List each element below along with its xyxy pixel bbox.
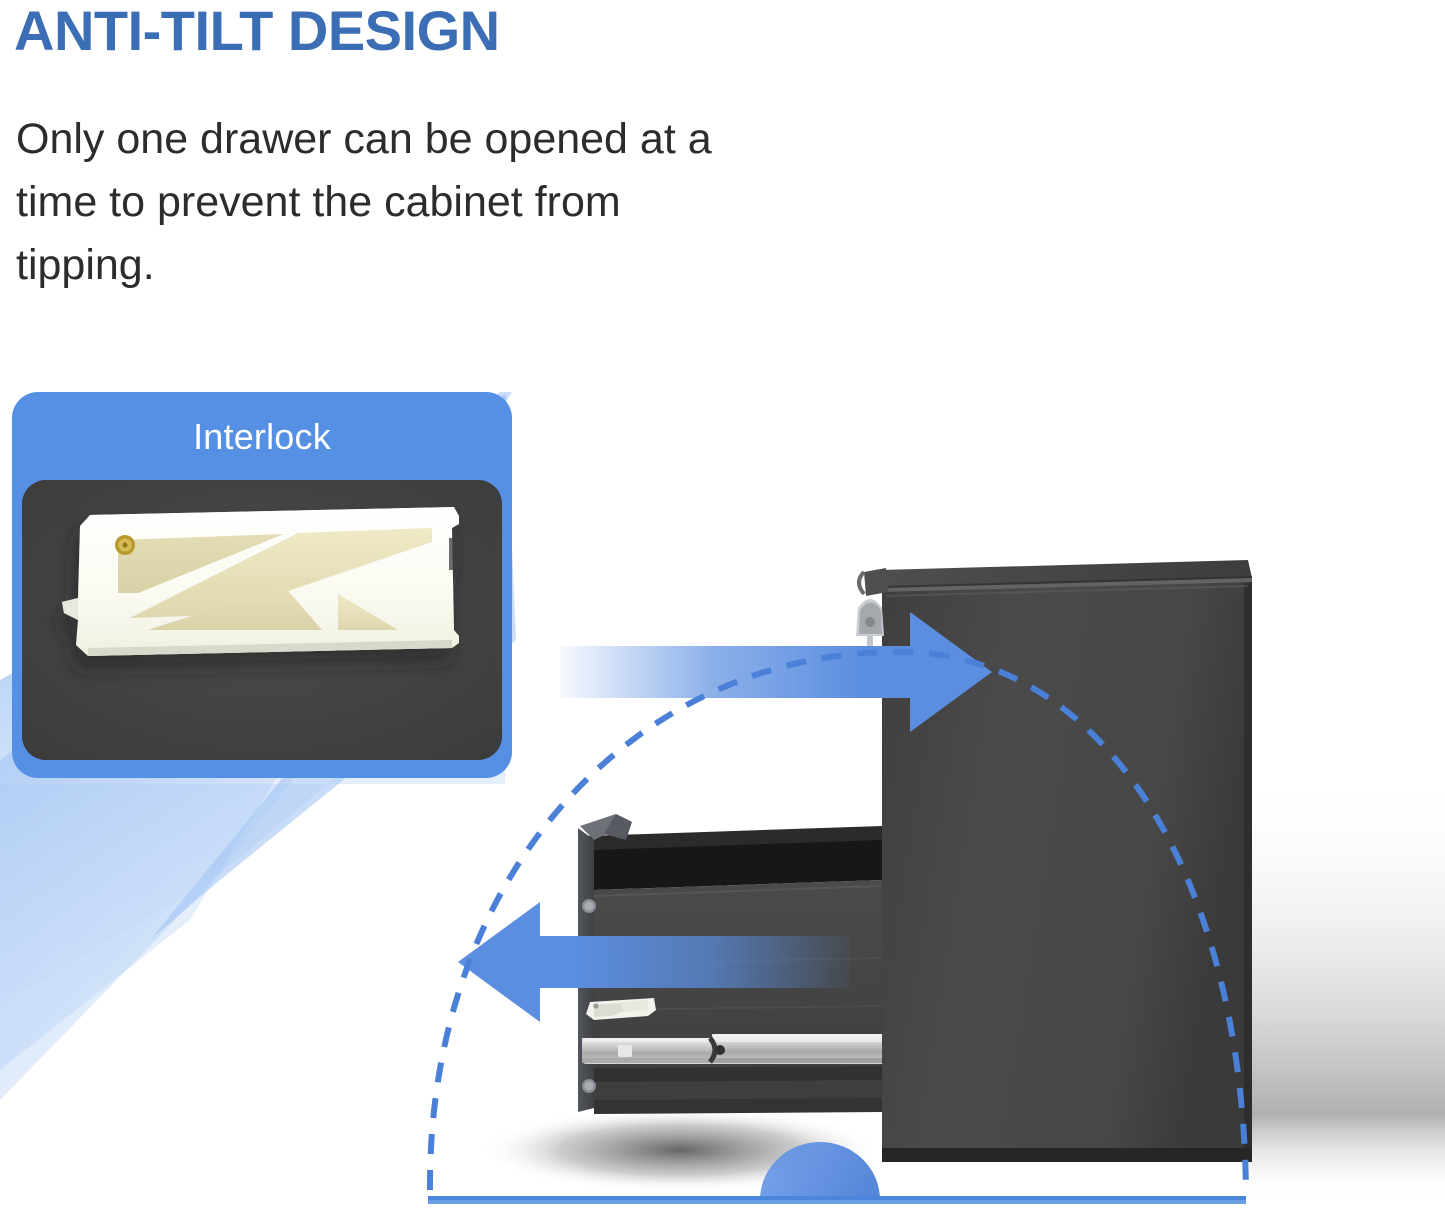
drawer-push-direction xyxy=(560,612,992,732)
cabinet-right-shadow xyxy=(1246,770,1445,1200)
page-subtitle: Only one drawer can be opened at a time … xyxy=(16,108,716,296)
callout-title: Interlock xyxy=(12,416,512,458)
cabinet-illustration xyxy=(380,540,1445,1213)
infographic-canvas: ANTI-TILT DESIGN Only one drawer can be … xyxy=(0,0,1445,1213)
page-title: ANTI-TILT DESIGN xyxy=(14,2,500,61)
